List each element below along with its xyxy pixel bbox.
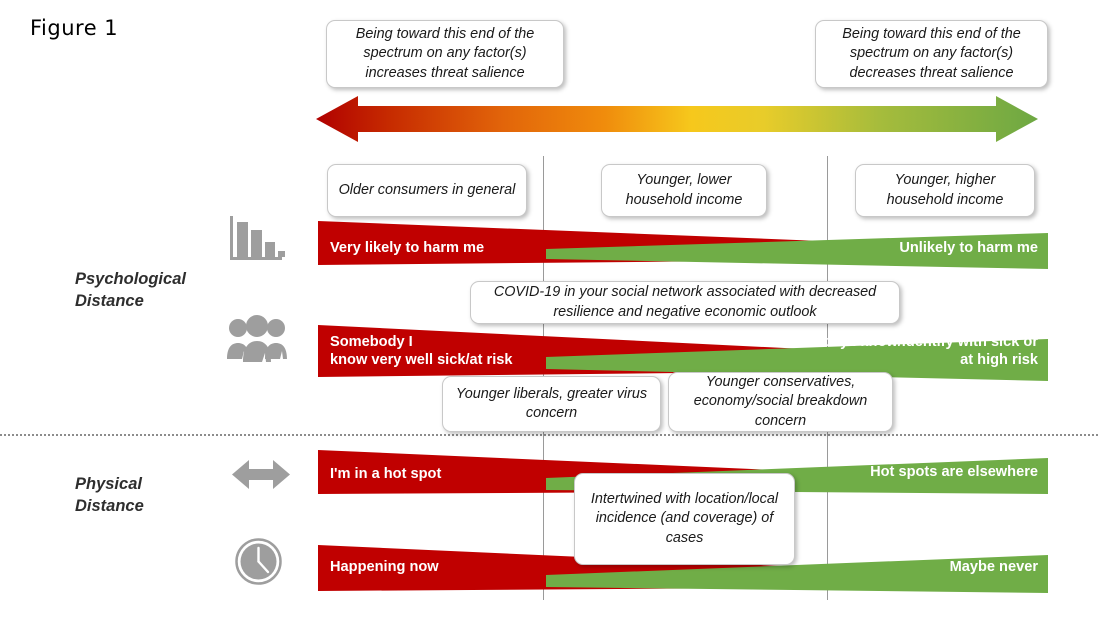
- wedge-label-left-1: Somebody I know very well sick/at risk: [330, 334, 660, 370]
- annotation-intertwined-location: Intertwined with location/local incidenc…: [574, 473, 795, 565]
- annotation-covid-social-network-text: COVID-19 in your social network associat…: [479, 283, 891, 321]
- column-callout-2: Younger, higher household income: [855, 164, 1035, 217]
- figure-canvas: Figure 1 Being toward this end of the sp…: [0, 0, 1098, 618]
- section-divider: [0, 434, 1098, 436]
- annotation-younger-conservatives: Younger conservatives, economy/social br…: [668, 372, 893, 432]
- section-label-psychological-distance: Psychological Distance: [75, 269, 225, 313]
- spectrum-right-callout: Being toward this end of the spectrum on…: [815, 20, 1048, 88]
- column-callout-2-text: Younger, higher household income: [864, 171, 1026, 209]
- double-headed-gradient-arrow: [316, 96, 1038, 142]
- spectrum-left-callout: Being toward this end of the spectrum on…: [326, 20, 564, 88]
- spectrum-right-callout-text: Being toward this end of the spectrum on…: [824, 25, 1039, 82]
- clock-icon: [235, 538, 282, 585]
- section-label-physical-distance: Physical Distance: [75, 474, 195, 518]
- column-callout-0-text: Older consumers in general: [339, 181, 516, 200]
- bar-chart-icon: [228, 214, 288, 266]
- wedge-label-right-1: Nobody I know/identify with sick or at h…: [690, 334, 1038, 370]
- section-label-psychological-distance-line1: Psychological Distance: [75, 269, 225, 313]
- annotation-younger-conservatives-text: Younger conservatives, economy/social br…: [677, 373, 884, 430]
- annotation-younger-liberals-text: Younger liberals, greater virus concern: [451, 385, 652, 423]
- section-label-physical-distance-line1: Physical Distance: [75, 474, 195, 518]
- annotation-intertwined-location-text: Intertwined with location/local incidenc…: [583, 490, 786, 547]
- annotation-younger-liberals: Younger liberals, greater virus concern: [442, 376, 661, 432]
- spectrum-left-callout-text: Being toward this end of the spectrum on…: [335, 25, 555, 82]
- annotation-covid-social-network: COVID-19 in your social network associat…: [470, 281, 900, 324]
- people-group-icon: [225, 314, 289, 362]
- wedge-label-left-0: Very likely to harm me: [330, 240, 660, 258]
- figure-title: Figure 1: [30, 16, 118, 40]
- column-callout-1-text: Younger, lower household income: [610, 171, 758, 209]
- wedge-label-right-0: Unlikely to harm me: [700, 240, 1038, 258]
- horizontal-double-arrow-icon: [232, 458, 290, 491]
- column-callout-1: Younger, lower household income: [601, 164, 767, 217]
- column-callout-0: Older consumers in general: [327, 164, 527, 217]
